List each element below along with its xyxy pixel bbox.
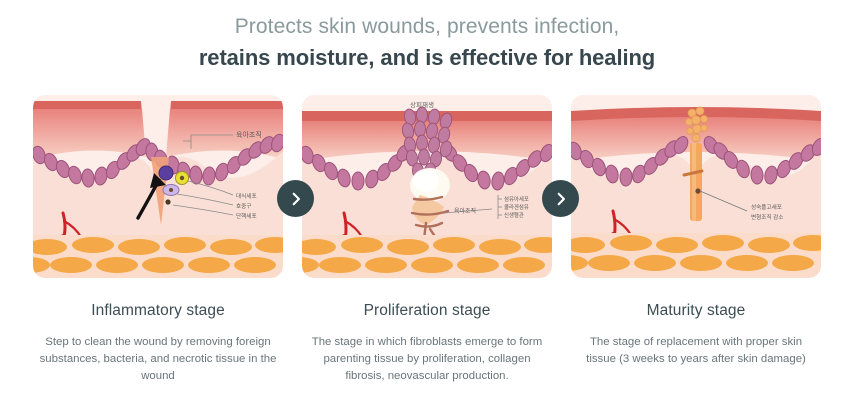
next-stage-button-1[interactable] bbox=[277, 180, 314, 217]
skin-diagram-proliferation: 상피재생 육아조직 섬유아세포 콜라겐섬유 신생혈관 bbox=[302, 95, 552, 278]
label-granulation-2: 육아조직 bbox=[454, 207, 476, 215]
svg-text:콜라겐섬유: 콜라겐섬유 bbox=[504, 203, 529, 211]
stage-description: Step to clean the wound by removing fore… bbox=[33, 334, 283, 385]
svg-text:섬유아세포: 섬유아세포 bbox=[504, 195, 529, 203]
svg-text:호중구: 호중구 bbox=[236, 203, 251, 210]
heading-line-1: Protects skin wounds, prevents infection… bbox=[0, 13, 854, 41]
page-heading: Protects skin wounds, prevents infection… bbox=[0, 0, 854, 73]
stage-description: The stage of replacement with proper ski… bbox=[571, 334, 821, 368]
label-granulation: 육아조직 bbox=[236, 130, 262, 139]
svg-text:대식세포: 대식세포 bbox=[236, 192, 257, 200]
stage-list: 육아조직 대식세포 호중구 단핵세포 bbox=[0, 95, 854, 385]
heading-line-2: retains moisture, and is effective for h… bbox=[0, 43, 854, 73]
svg-text:성숙플고세포: 성숙플고세포 bbox=[751, 203, 782, 211]
stage-description: The stage in which fibroblasts emerge to… bbox=[302, 334, 552, 385]
skin-diagram-maturity: 성숙플고세포 변형조직 감소 bbox=[571, 95, 821, 278]
stage-title: Inflammatory stage bbox=[33, 302, 283, 320]
svg-text:변형조직 감소: 변형조직 감소 bbox=[751, 213, 783, 221]
stage-title: Proliferation stage bbox=[302, 302, 552, 320]
chevron-right-icon bbox=[554, 192, 568, 206]
stage-card-maturity: 성숙플고세포 변형조직 감소 bbox=[571, 95, 821, 385]
stage-card-proliferation: 상피재생 육아조직 섬유아세포 콜라겐섬유 신생혈관 bbox=[302, 95, 552, 385]
chevron-right-icon bbox=[289, 192, 303, 206]
svg-text:단핵세포: 단핵세포 bbox=[236, 212, 257, 220]
label-reepithelialization: 상피재생 bbox=[410, 100, 434, 109]
stage-card-inflammatory: 육아조직 대식세포 호중구 단핵세포 bbox=[33, 95, 283, 385]
svg-text:신생혈관: 신생혈관 bbox=[504, 211, 524, 219]
next-stage-button-2[interactable] bbox=[542, 180, 579, 217]
skin-diagram-inflammatory: 육아조직 대식세포 호중구 단핵세포 bbox=[33, 95, 283, 278]
stage-title: Maturity stage bbox=[571, 302, 821, 320]
